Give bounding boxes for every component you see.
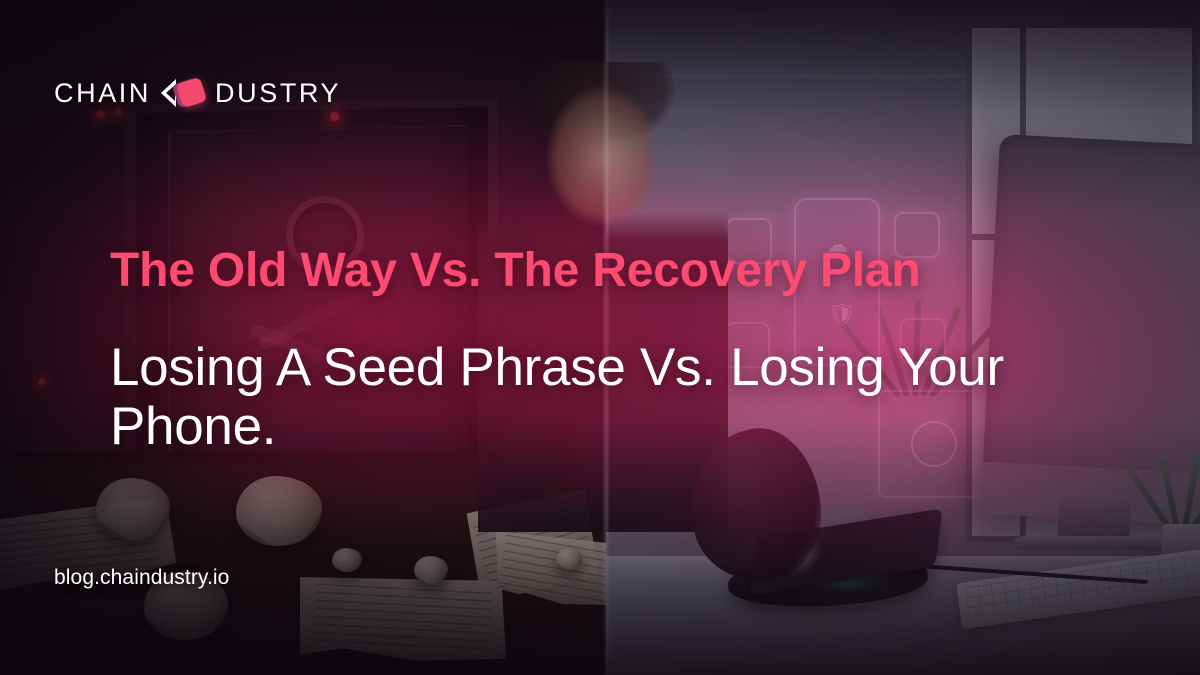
headline: The Old Way Vs. The Recovery Plan bbox=[110, 246, 921, 297]
blog-banner: ☁ 🛡 bbox=[0, 0, 1200, 675]
brand-logo[interactable]: CHAIN DUSTRY bbox=[54, 76, 341, 110]
subheadline: Losing A Seed Phrase Vs. Losing Your Pho… bbox=[110, 338, 1040, 457]
banner-content: CHAIN DUSTRY The Old Way Vs. The Recover… bbox=[0, 0, 1200, 675]
chevron-diamond-logo-icon bbox=[161, 76, 205, 110]
logo-word-right: DUSTRY bbox=[215, 80, 341, 107]
logo-word-left: CHAIN bbox=[54, 80, 151, 107]
site-url[interactable]: blog.chaindustry.io bbox=[54, 566, 229, 590]
